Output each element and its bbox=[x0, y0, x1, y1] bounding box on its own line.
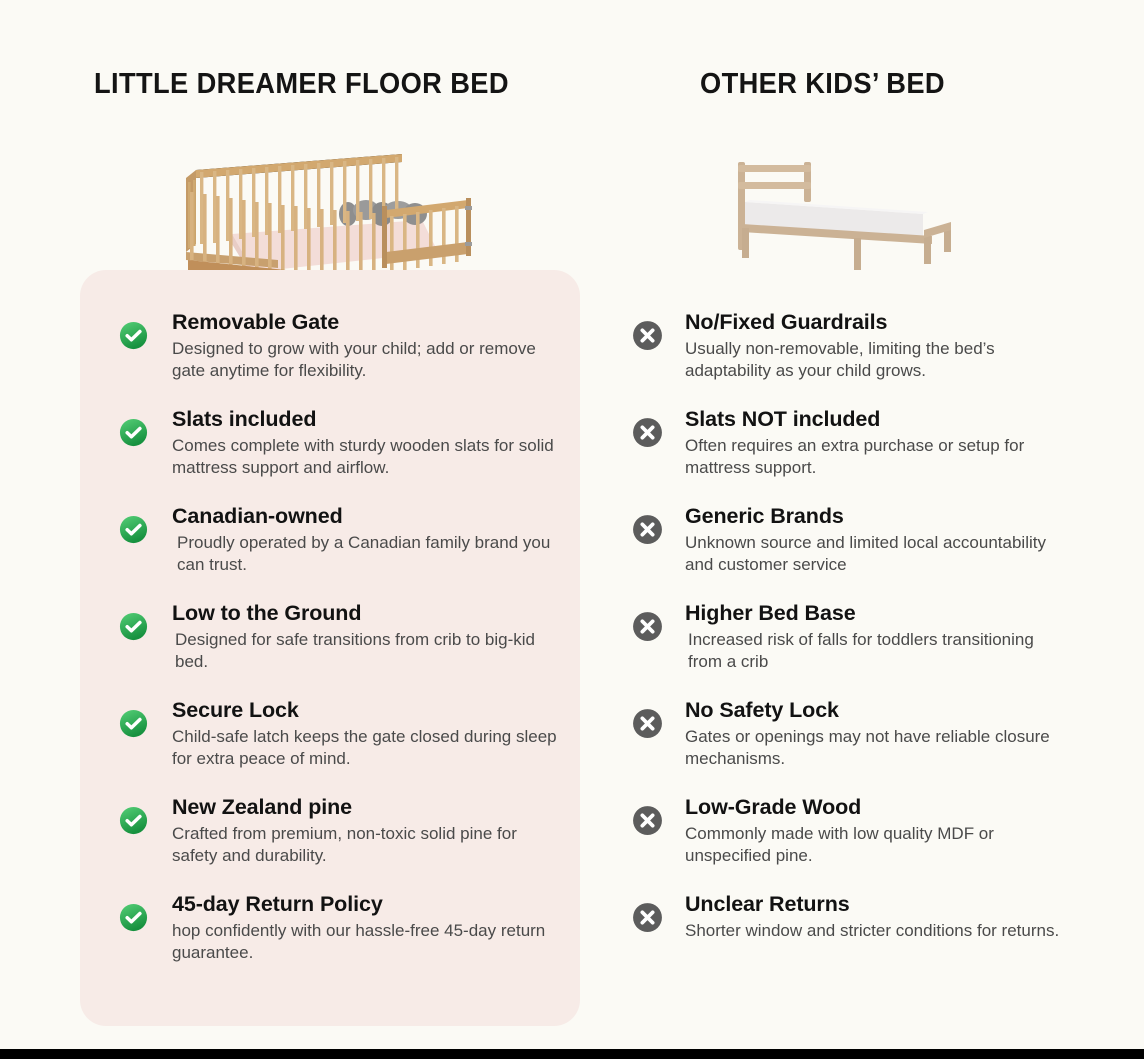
other-bed-illustration bbox=[718, 152, 968, 274]
check-circle-icon bbox=[118, 708, 149, 739]
feature-description: hop confidently with our hassle-free 45-… bbox=[172, 920, 562, 964]
x-circle-icon bbox=[631, 610, 664, 643]
list-item: Low-Grade Wood Commonly made with low qu… bbox=[625, 795, 1085, 892]
check-circle-icon bbox=[118, 320, 149, 351]
list-item: No/Fixed Guardrails Usually non-removabl… bbox=[625, 310, 1085, 407]
check-circle-icon bbox=[118, 514, 149, 545]
bottom-divider bbox=[0, 1049, 1144, 1059]
left-column-title: LITTLE DREAMER FLOOR BED bbox=[94, 68, 509, 101]
feature-title: No Safety Lock bbox=[685, 698, 1085, 722]
x-circle-icon bbox=[631, 901, 664, 934]
x-circle-icon bbox=[631, 707, 664, 740]
check-circle-icon bbox=[118, 417, 149, 448]
right-feature-list: No/Fixed Guardrails Usually non-removabl… bbox=[625, 310, 1085, 989]
feature-description: Shorter window and stricter conditions f… bbox=[685, 920, 1065, 942]
list-item: Generic Brands Unknown source and limite… bbox=[625, 504, 1085, 601]
other-bed-image bbox=[718, 152, 968, 274]
feature-description: Usually non-removable, limiting the bed’… bbox=[685, 338, 1065, 382]
feature-title: No/Fixed Guardrails bbox=[685, 310, 1085, 334]
feature-description: Often requires an extra purchase or setu… bbox=[685, 435, 1065, 479]
list-item: New Zealand pine Crafted from premium, n… bbox=[110, 795, 580, 892]
feature-description: Proudly operated by a Canadian family br… bbox=[172, 532, 567, 576]
feature-description: Commonly made with low quality MDF or un… bbox=[685, 823, 1065, 867]
feature-title: Slats included bbox=[172, 407, 580, 431]
list-item: Low to the Ground Designed for safe tran… bbox=[110, 601, 580, 698]
check-circle-icon bbox=[118, 805, 149, 836]
feature-description: Child-safe latch keeps the gate closed d… bbox=[172, 726, 562, 770]
feature-title: New Zealand pine bbox=[172, 795, 580, 819]
check-circle-icon bbox=[118, 611, 149, 642]
feature-title: Slats NOT included bbox=[685, 407, 1085, 431]
feature-description: Designed for safe transitions from crib … bbox=[172, 629, 565, 673]
left-feature-list: Removable Gate Designed to grow with you… bbox=[110, 310, 580, 989]
right-column-title: OTHER KIDS’ BED bbox=[700, 68, 945, 101]
feature-title: Higher Bed Base bbox=[685, 601, 1085, 625]
feature-title: Unclear Returns bbox=[685, 892, 1085, 916]
list-item: Removable Gate Designed to grow with you… bbox=[110, 310, 580, 407]
feature-title: 45-day Return Policy bbox=[172, 892, 580, 916]
list-item: Canadian-owned Proudly operated by a Can… bbox=[110, 504, 580, 601]
feature-description: Crafted from premium, non-toxic solid pi… bbox=[172, 823, 562, 867]
feature-title: Canadian-owned bbox=[172, 504, 580, 528]
list-item: Slats NOT included Often requires an ext… bbox=[625, 407, 1085, 504]
feature-description: Comes complete with sturdy wooden slats … bbox=[172, 435, 562, 479]
feature-description: Gates or openings may not have reliable … bbox=[685, 726, 1065, 770]
feature-title: Low to the Ground bbox=[172, 601, 580, 625]
feature-title: Generic Brands bbox=[685, 504, 1085, 528]
feature-title: Secure Lock bbox=[172, 698, 580, 722]
list-item: Slats included Comes complete with sturd… bbox=[110, 407, 580, 504]
list-item: Higher Bed Base Increased risk of falls … bbox=[625, 601, 1085, 698]
list-item: Secure Lock Child-safe latch keeps the g… bbox=[110, 698, 580, 795]
feature-description: Designed to grow with your child; add or… bbox=[172, 338, 562, 382]
x-circle-icon bbox=[631, 319, 664, 352]
check-circle-icon bbox=[118, 902, 149, 933]
comparison-page: LITTLE DREAMER FLOOR BED OTHER KIDS’ BED bbox=[0, 0, 1144, 1059]
feature-title: Low-Grade Wood bbox=[685, 795, 1085, 819]
x-circle-icon bbox=[631, 513, 664, 546]
feature-description: Increased risk of falls for toddlers tra… bbox=[685, 629, 1068, 673]
list-item: No Safety Lock Gates or openings may not… bbox=[625, 698, 1085, 795]
feature-description: Unknown source and limited local account… bbox=[685, 532, 1065, 576]
list-item: Unclear Returns Shorter window and stric… bbox=[625, 892, 1085, 989]
feature-title: Removable Gate bbox=[172, 310, 580, 334]
x-circle-icon bbox=[631, 416, 664, 449]
x-circle-icon bbox=[631, 804, 664, 837]
list-item: 45-day Return Policy hop confidently wit… bbox=[110, 892, 580, 989]
